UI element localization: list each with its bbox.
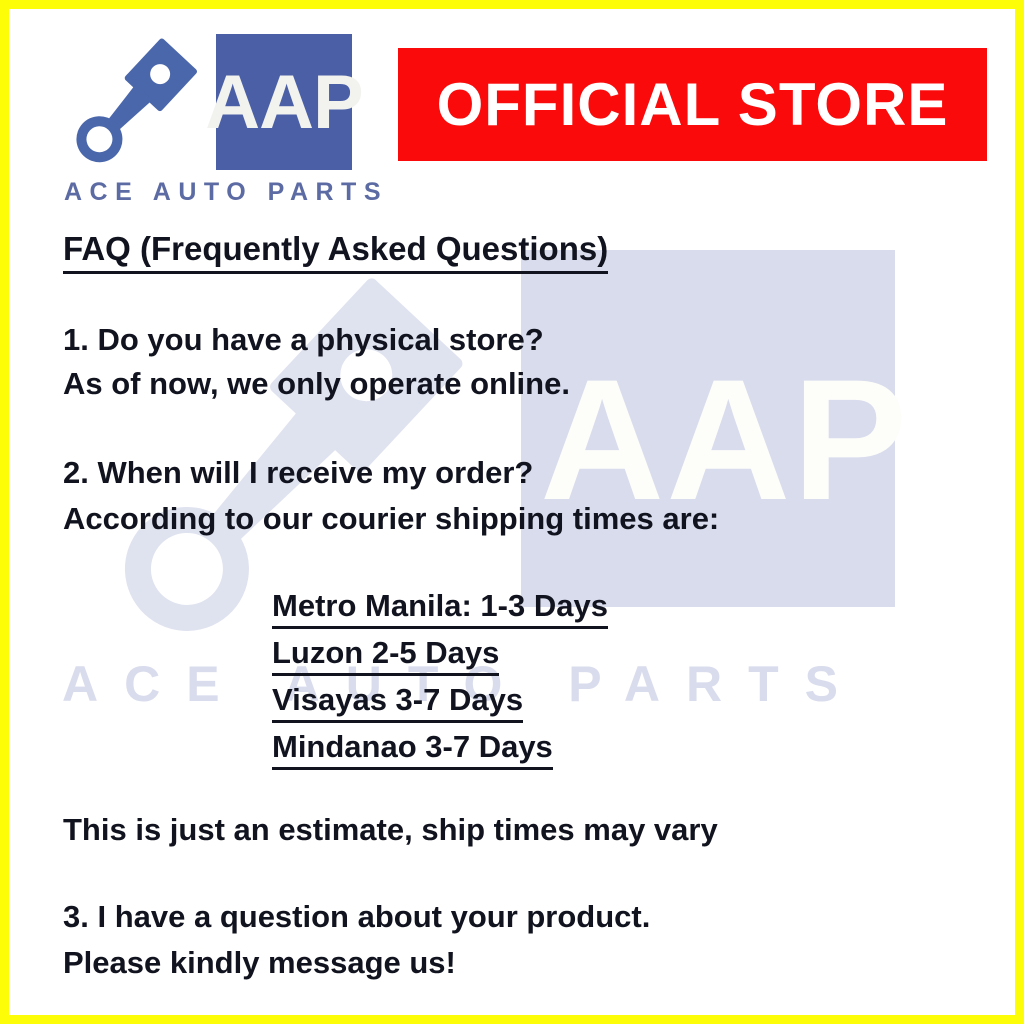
faq-infographic-page: AAP ACE AUTO PARTS [0,0,1024,1024]
shipping-item-luzon: Luzon 2-5 Days [272,637,499,676]
faq-answer-2: According to our courier shipping times … [63,503,719,534]
faq-question-2: 2. When will I receive my order? [63,457,533,488]
shipping-item-visayas: Visayas 3-7 Days [272,684,523,723]
shipping-item-mindanao: Mindanao 3-7 Days [272,731,553,770]
faq-title: FAQ (Frequently Asked Questions) [63,232,608,274]
frame-border-bottom [0,1015,1024,1024]
frame-border-right [1015,0,1024,1024]
shipping-note: This is just an estimate, ship times may… [63,814,718,845]
faq-question-1: 1. Do you have a physical store? [63,324,544,355]
frame-border-left [0,0,9,1024]
frame-border-top [0,0,1024,9]
faq-content: FAQ (Frequently Asked Questions) 1. Do y… [0,0,1024,1024]
faq-question-3: 3. I have a question about your product. [63,901,650,932]
shipping-times-list: Metro Manila: 1-3 Days Luzon 2-5 Days Vi… [272,590,608,778]
shipping-item-metro-manila: Metro Manila: 1-3 Days [272,590,608,629]
faq-answer-3: Please kindly message us! [63,947,456,978]
faq-answer-1: As of now, we only operate online. [63,368,570,399]
